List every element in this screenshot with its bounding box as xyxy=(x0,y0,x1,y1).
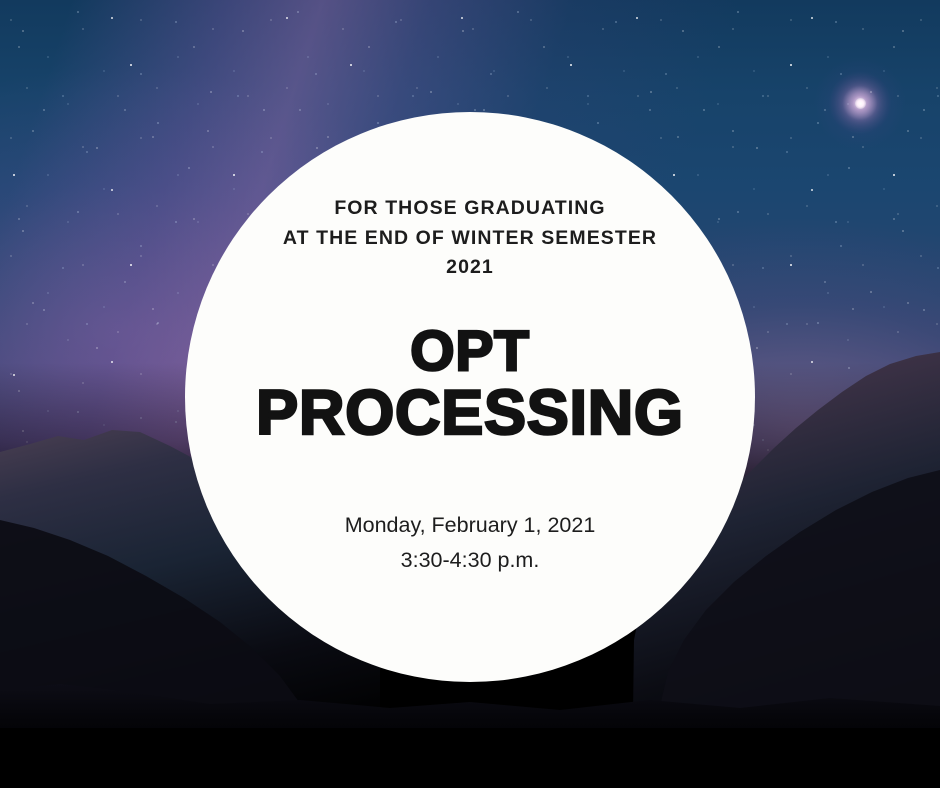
headline-line-2: PROCESSING xyxy=(250,384,690,443)
badge-content: FOR THOSE GRADUATING AT THE END OF WINTE… xyxy=(250,194,690,578)
headline-line-1: OPT xyxy=(250,325,690,378)
page-title: OPT PROCESSING xyxy=(250,325,690,443)
bright-star-icon xyxy=(855,98,866,109)
event-datetime: Monday, February 1, 2021 3:30-4:30 p.m. xyxy=(250,508,690,578)
event-flyer: FOR THOSE GRADUATING AT THE END OF WINTE… xyxy=(0,0,940,788)
eyebrow-text: FOR THOSE GRADUATING AT THE END OF WINTE… xyxy=(250,194,690,283)
white-circle-badge: FOR THOSE GRADUATING AT THE END OF WINTE… xyxy=(185,112,755,682)
